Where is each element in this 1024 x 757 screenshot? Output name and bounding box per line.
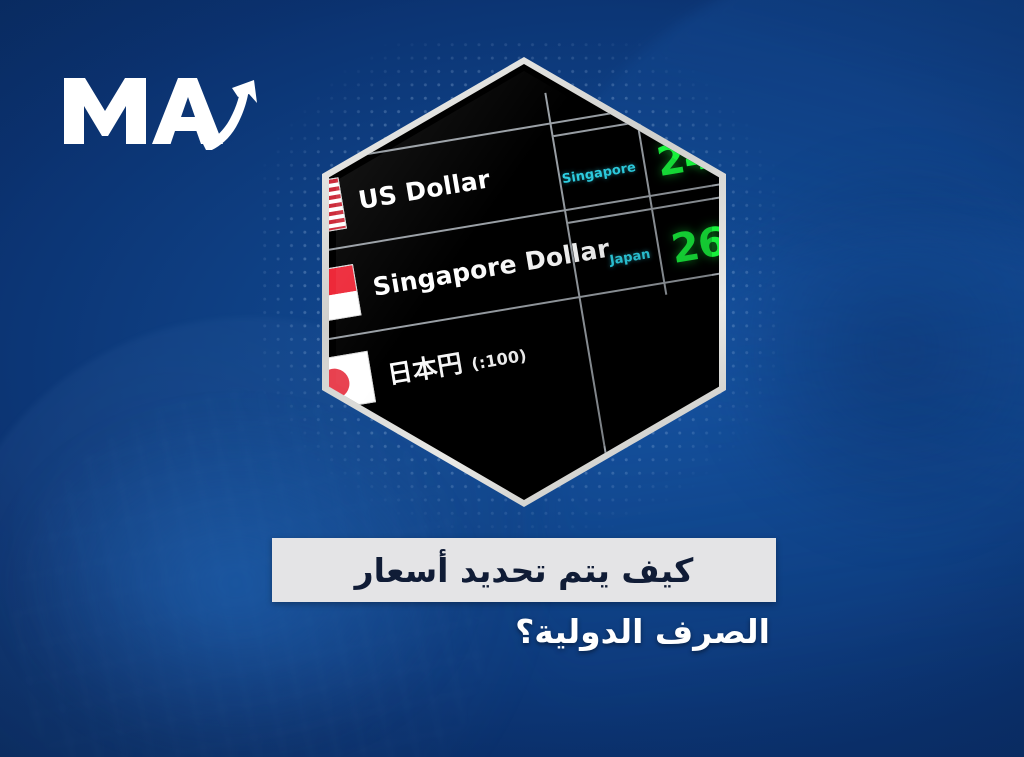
quote-value: 24.88 (636, 101, 719, 208)
flag-singapore (329, 264, 361, 328)
headline-line-2: الصرف الدولية؟ (272, 612, 776, 651)
quote-country: Japan (574, 245, 659, 274)
quote-value: 34.10 (622, 64, 719, 121)
headline-box: كيف يتم تحديد أسعار (272, 538, 776, 602)
currency-name: 日本円 (:100) (384, 333, 528, 392)
currency-name-text: 日本円 (385, 349, 464, 390)
currency-name: US Dollar (356, 164, 492, 215)
quote-value: 26.9 (651, 190, 719, 295)
currency-board-photo: US Dollar (329, 64, 719, 500)
currency-name-suffix: (:100) (470, 346, 528, 374)
hexagon-badge: US Dollar (322, 57, 726, 507)
quote-country: Singapore (559, 158, 644, 187)
ticker-board: US Dollar (329, 64, 719, 500)
poster-canvas: US Dollar (0, 0, 1024, 757)
flag-usa (329, 177, 347, 241)
brand-logo[interactable] (60, 64, 270, 150)
headline-line-1: كيف يتم تحديد أسعار (355, 554, 694, 587)
